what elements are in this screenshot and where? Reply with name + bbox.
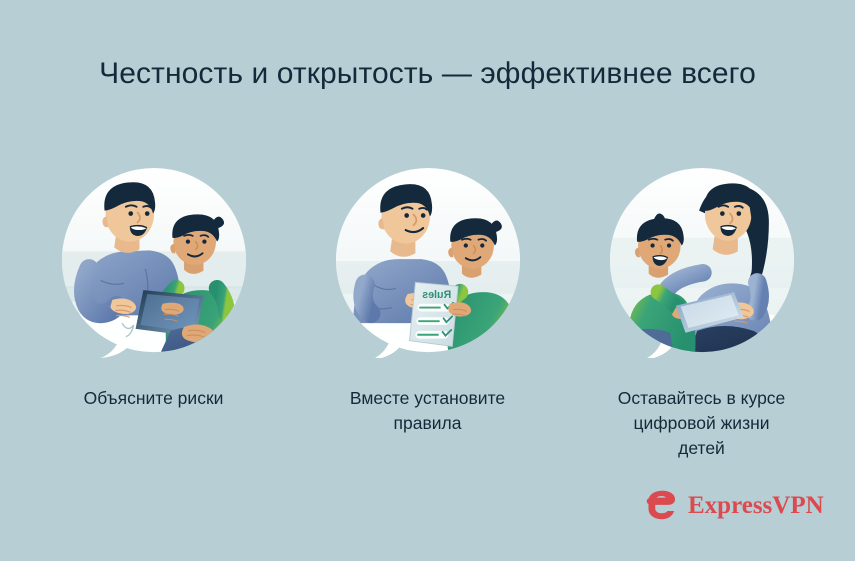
rules-paper-2: Rules (409, 282, 457, 346)
illustration-father-explaining-risks (59, 168, 249, 358)
card-caption-1: Объясните риски (84, 386, 224, 411)
expressvpn-logo[interactable]: ExpressVPN (643, 487, 824, 523)
illustration-wrap-1 (59, 168, 249, 364)
illustration-mother-boy-tablet (607, 168, 797, 358)
infographic-root: Честность и открытость — эффективнее все… (0, 0, 855, 561)
page-title: Честность и открытость — эффективнее все… (0, 54, 855, 93)
illustration-wrap-3 (607, 168, 797, 364)
card-stay-informed: Оставайтесь в курсе цифровой жизни детей (572, 168, 832, 461)
expressvpn-wordmark: ExpressVPN (688, 493, 824, 518)
expressvpn-e-mark-icon (643, 487, 679, 523)
card-set-rules-together: Rules (298, 168, 558, 436)
card-row: Объясните риски (0, 168, 855, 461)
card-explain-risks: Объясните риски (24, 168, 284, 411)
illustration-wrap-2: Rules (333, 168, 523, 364)
card-caption-2: Вместе установите правила (338, 386, 518, 436)
rules-paper-heading: Rules (422, 289, 451, 301)
illustration-father-boy-rules: Rules (333, 168, 523, 358)
card-caption-3: Оставайтесь в курсе цифровой жизни детей (614, 386, 789, 461)
